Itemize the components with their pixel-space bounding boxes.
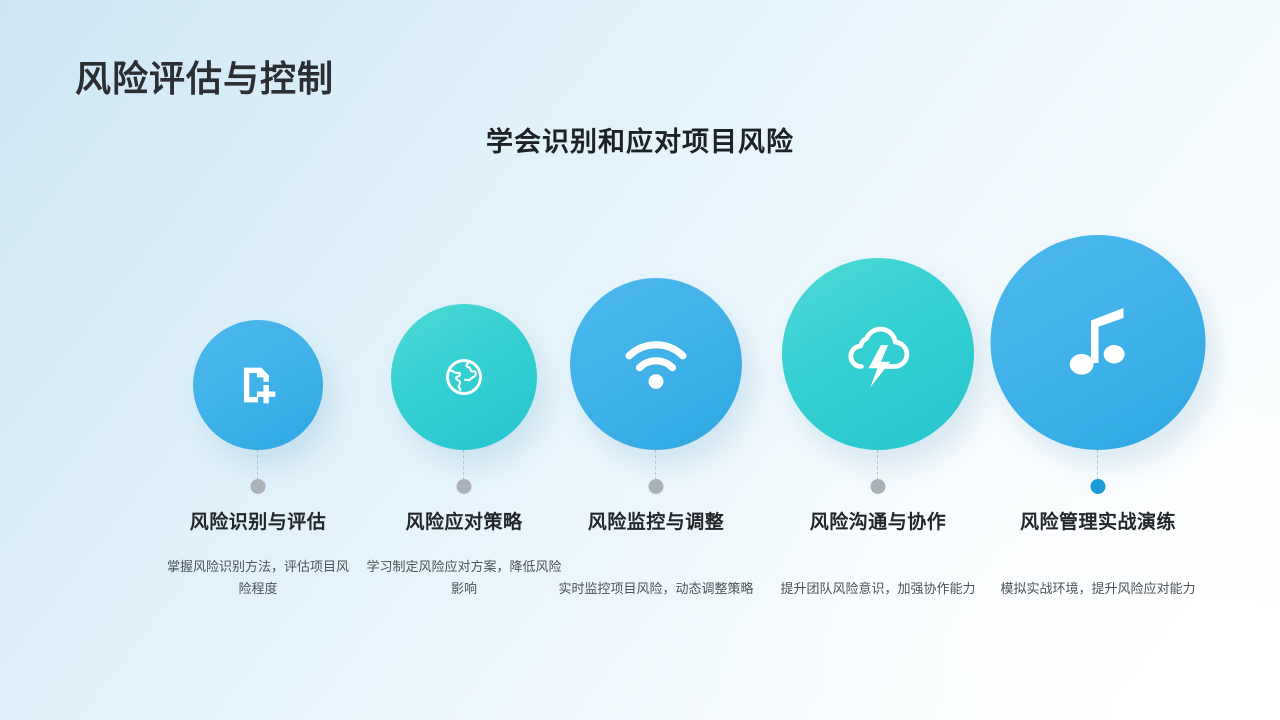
step-title-1: 风险识别与评估 bbox=[142, 507, 374, 534]
bubble-zone bbox=[762, 180, 994, 450]
step-desc-5: 模拟实战环境，提升风险应对能力 bbox=[988, 578, 1208, 600]
step-connector-line bbox=[463, 450, 465, 480]
music-note-icon bbox=[1062, 303, 1134, 383]
step-title-5: 风险管理实战演练 bbox=[982, 507, 1214, 534]
step-connector-line bbox=[877, 450, 879, 480]
step-dot-2[interactable] bbox=[457, 479, 472, 494]
step-connector-line bbox=[1097, 450, 1099, 480]
bubble-zone bbox=[982, 180, 1214, 450]
step-desc-3: 实时监控项目风险，动态调整策略 bbox=[554, 578, 758, 600]
slide-canvas: 风险评估与控制 学会识别和应对项目风险 风险识别与评估 掌握风险识别方法，评估项… bbox=[0, 0, 1280, 720]
step-title-4: 风险沟通与协作 bbox=[762, 507, 994, 534]
step-desc-2: 学习制定风险应对方案，降低风险影响 bbox=[362, 556, 566, 600]
step-bubble-3[interactable] bbox=[570, 278, 742, 450]
step-desc-1: 掌握风险识别方法，评估项目风险程度 bbox=[163, 556, 353, 600]
step-item-4[interactable]: 风险沟通与协作 提升团队风险意识，加强协作能力 bbox=[762, 180, 994, 640]
step-dot-5[interactable] bbox=[1091, 479, 1106, 494]
step-item-3[interactable]: 风险监控与调整 实时监控项目风险，动态调整策略 bbox=[540, 180, 772, 640]
step-dot-4[interactable] bbox=[871, 479, 886, 494]
step-title-3: 风险监控与调整 bbox=[540, 507, 772, 534]
bubble-zone bbox=[540, 180, 772, 450]
thunderstorm-cloud-icon bbox=[840, 318, 916, 390]
page-subtitle: 学会识别和应对项目风险 bbox=[0, 120, 1280, 159]
step-bubble-2[interactable] bbox=[391, 304, 537, 450]
file-plus-icon bbox=[232, 359, 284, 411]
step-bubble-4[interactable] bbox=[782, 258, 974, 450]
step-dot-3[interactable] bbox=[649, 479, 664, 494]
step-desc-4: 提升团队风险意识，加强协作能力 bbox=[776, 578, 980, 600]
step-list: 风险识别与评估 掌握风险识别方法，评估项目风险程度 风险应对策略 学习制定风险应… bbox=[62, 180, 1222, 640]
step-dot-1[interactable] bbox=[251, 479, 266, 494]
step-bubble-1[interactable] bbox=[193, 320, 323, 450]
globe-icon bbox=[442, 355, 486, 399]
step-item-5[interactable]: 风险管理实战演练 模拟实战环境，提升风险应对能力 bbox=[982, 180, 1214, 640]
page-title: 风险评估与控制 bbox=[75, 50, 334, 102]
step-connector-line bbox=[257, 450, 259, 480]
bubble-zone bbox=[142, 180, 374, 450]
step-item-1[interactable]: 风险识别与评估 掌握风险识别方法，评估项目风险程度 bbox=[142, 180, 374, 640]
step-bubble-5[interactable] bbox=[991, 235, 1206, 450]
step-connector-line bbox=[655, 450, 657, 480]
wifi-icon bbox=[623, 336, 689, 392]
